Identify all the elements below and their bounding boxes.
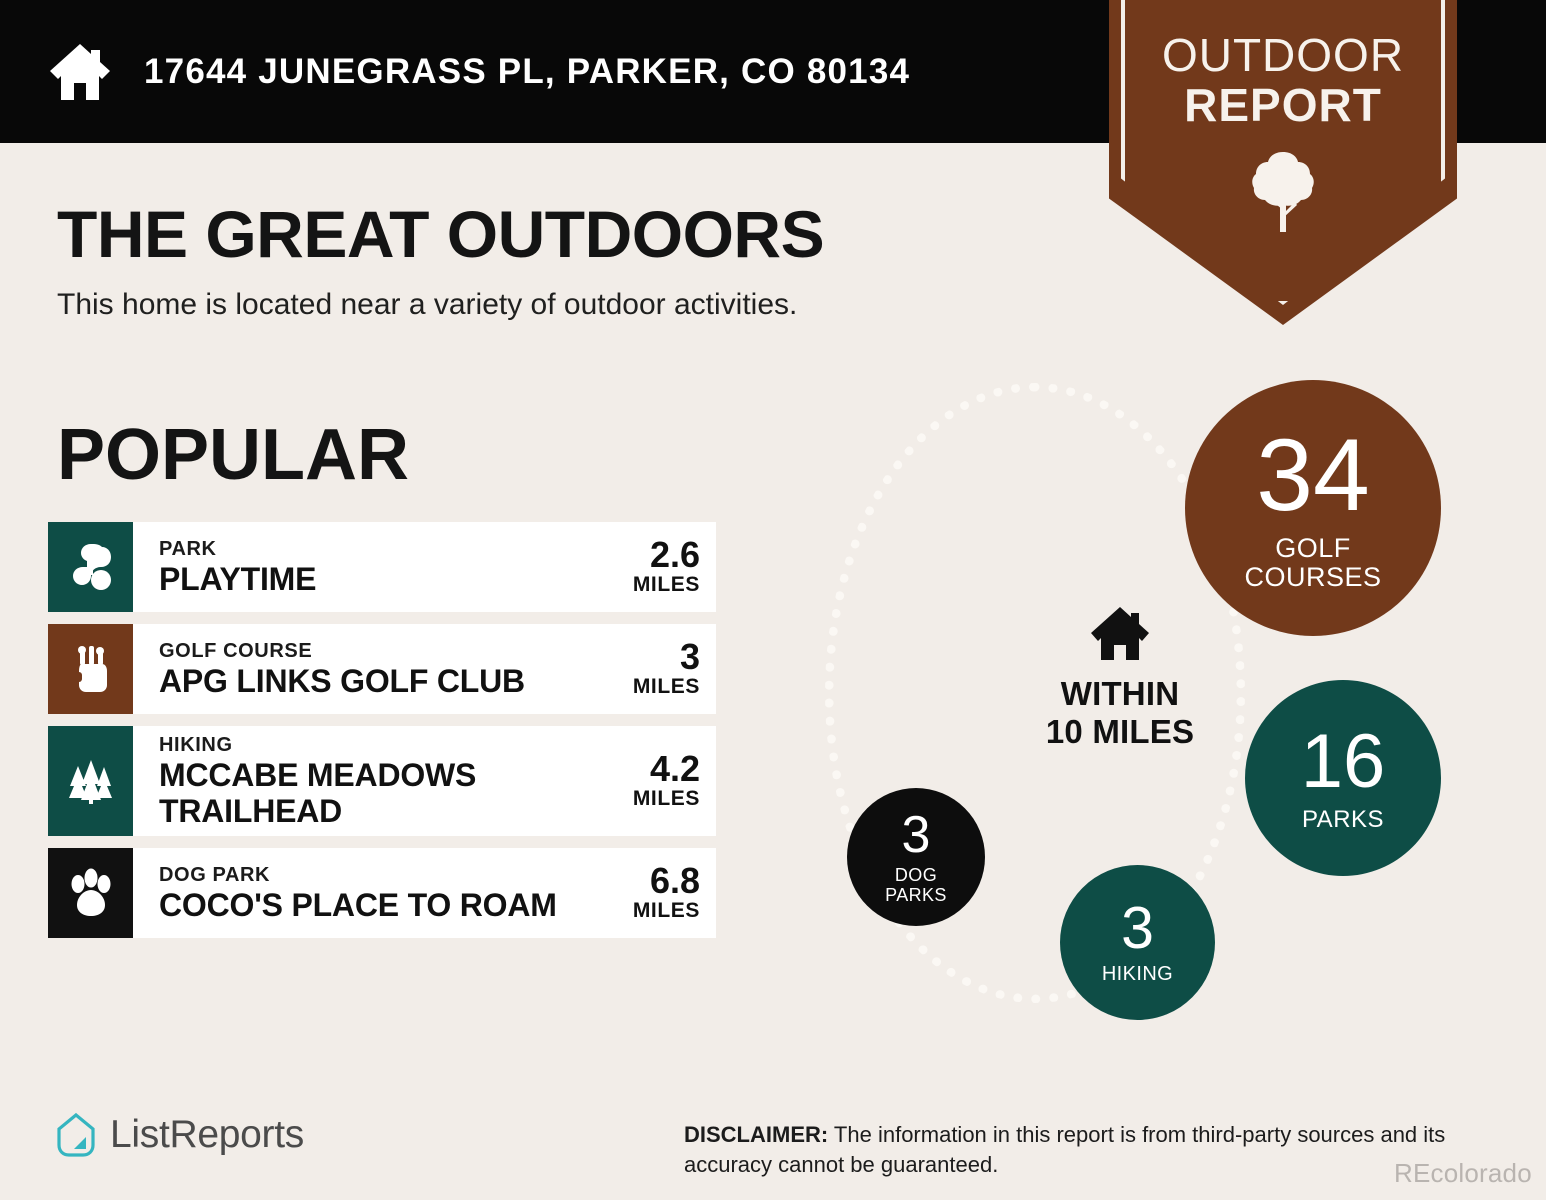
- list-item-icon-tile: [48, 848, 133, 938]
- page-title: THE GREAT OUTDOORS: [57, 196, 824, 272]
- badge-line-1: OUTDOOR: [1162, 29, 1404, 81]
- tree-icon: [1250, 150, 1316, 232]
- bubble-label-line-2: PARKS: [885, 886, 947, 905]
- list-item-distance-unit: MILES: [633, 899, 700, 923]
- list-item-info: PARK PLAYTIME: [159, 537, 623, 597]
- bubble-label: HIKING: [1102, 964, 1173, 985]
- bubble-count: 16: [1301, 724, 1386, 800]
- golf-bag-icon: [64, 642, 118, 696]
- home-icon: [1089, 605, 1151, 663]
- outdoor-report-badge: OUTDOOR REPORT: [1109, 0, 1457, 325]
- bubble-label: GOLF COURSES: [1244, 534, 1381, 592]
- list-item-distance-value: 6.8: [633, 863, 700, 899]
- list-item-distance: 6.8 MILES: [623, 863, 700, 923]
- list-item-icon-tile: [48, 726, 133, 836]
- list-item-category: PARK: [159, 537, 623, 561]
- bubble-label-line-2: COURSES: [1244, 563, 1381, 592]
- list-item-name: MCCABE MEADOWS TRAILHEAD: [159, 757, 623, 829]
- list-item-distance-unit: MILES: [633, 675, 700, 699]
- center-line-1: WITHIN: [1005, 675, 1235, 713]
- list-item-category: GOLF COURSE: [159, 639, 623, 663]
- recolorado-watermark: REcolorado: [1394, 1158, 1532, 1189]
- bubble-label: DOG PARKS: [885, 866, 947, 905]
- listreports-logo[interactable]: ListReports: [55, 1112, 304, 1158]
- list-item-card: DOG PARK COCO'S PLACE TO ROAM 6.8 MILES: [133, 848, 716, 938]
- bubble-count: 3: [902, 809, 931, 861]
- list-item-distance: 3 MILES: [623, 639, 700, 699]
- badge-line-2: REPORT: [1109, 80, 1457, 130]
- bubble-label-line-1: DOG: [885, 866, 947, 885]
- page-subtitle: This home is located near a variety of o…: [57, 288, 797, 322]
- disclaimer: DISCLAIMER: The information in this repo…: [684, 1120, 1494, 1180]
- bubble-label: PARKS: [1302, 807, 1384, 833]
- list-item-distance-value: 3: [633, 639, 700, 675]
- list-item-name: PLAYTIME: [159, 561, 623, 597]
- park-tree-path-icon: [64, 540, 118, 594]
- bubble-parks: 16 PARKS: [1245, 680, 1441, 876]
- bubble-golf-courses: 34 GOLF COURSES: [1185, 380, 1441, 636]
- listreports-house-pin-icon: [55, 1112, 97, 1158]
- within-10-miles-diagram: 34 GOLF COURSES 16 PARKS 3 HIKING 3 DOG …: [790, 350, 1490, 1050]
- listreports-logo-text: ListReports: [110, 1113, 304, 1157]
- list-item-category: DOG PARK: [159, 863, 623, 887]
- list-item-distance-unit: MILES: [633, 573, 700, 597]
- list-item-distance-value: 2.6: [633, 537, 700, 573]
- diagram-center: WITHIN 10 MILES: [1005, 605, 1235, 751]
- disclaimer-label: DISCLAIMER:: [684, 1122, 828, 1147]
- home-icon: [48, 41, 112, 103]
- list-item[interactable]: GOLF COURSE APG LINKS GOLF CLUB 3 MILES: [48, 624, 716, 714]
- list-item-info: HIKING MCCABE MEADOWS TRAILHEAD: [159, 733, 623, 829]
- bubble-label-line-1: GOLF: [1244, 534, 1381, 563]
- bubble-hiking: 3 HIKING: [1060, 865, 1215, 1020]
- badge-title: OUTDOOR REPORT: [1109, 30, 1457, 130]
- list-item-icon-tile: [48, 522, 133, 612]
- list-item-card: PARK PLAYTIME 2.6 MILES: [133, 522, 716, 612]
- popular-list: PARK PLAYTIME 2.6 MILES GOLF COURSE: [48, 522, 716, 950]
- bubble-dog-parks: 3 DOG PARKS: [847, 788, 985, 926]
- header-content: 17644 JUNEGRASS PL, PARKER, CO 80134: [48, 0, 910, 143]
- list-item-category: HIKING: [159, 733, 623, 757]
- center-line-2: 10 MILES: [1005, 713, 1235, 751]
- list-item[interactable]: PARK PLAYTIME 2.6 MILES: [48, 522, 716, 612]
- list-item[interactable]: HIKING MCCABE MEADOWS TRAILHEAD 4.2 MILE…: [48, 726, 716, 836]
- property-address: 17644 JUNEGRASS PL, PARKER, CO 80134: [144, 52, 910, 92]
- list-item-distance: 2.6 MILES: [623, 537, 700, 597]
- popular-heading: POPULAR: [57, 414, 409, 496]
- list-item[interactable]: DOG PARK COCO'S PLACE TO ROAM 6.8 MILES: [48, 848, 716, 938]
- pine-trees-icon: [64, 754, 118, 808]
- list-item-icon-tile: [48, 624, 133, 714]
- list-item-name: COCO'S PLACE TO ROAM: [159, 887, 623, 923]
- list-item-info: DOG PARK COCO'S PLACE TO ROAM: [159, 863, 623, 923]
- bubble-count: 34: [1256, 424, 1369, 526]
- list-item-distance-value: 4.2: [633, 751, 700, 787]
- list-item-name: APG LINKS GOLF CLUB: [159, 663, 623, 699]
- paw-print-icon: [64, 866, 118, 920]
- list-item-distance: 4.2 MILES: [623, 751, 700, 811]
- list-item-distance-unit: MILES: [633, 787, 700, 811]
- bubble-count: 3: [1121, 899, 1154, 958]
- list-item-info: GOLF COURSE APG LINKS GOLF CLUB: [159, 639, 623, 699]
- list-item-card: GOLF COURSE APG LINKS GOLF CLUB 3 MILES: [133, 624, 716, 714]
- list-item-card: HIKING MCCABE MEADOWS TRAILHEAD 4.2 MILE…: [133, 726, 716, 836]
